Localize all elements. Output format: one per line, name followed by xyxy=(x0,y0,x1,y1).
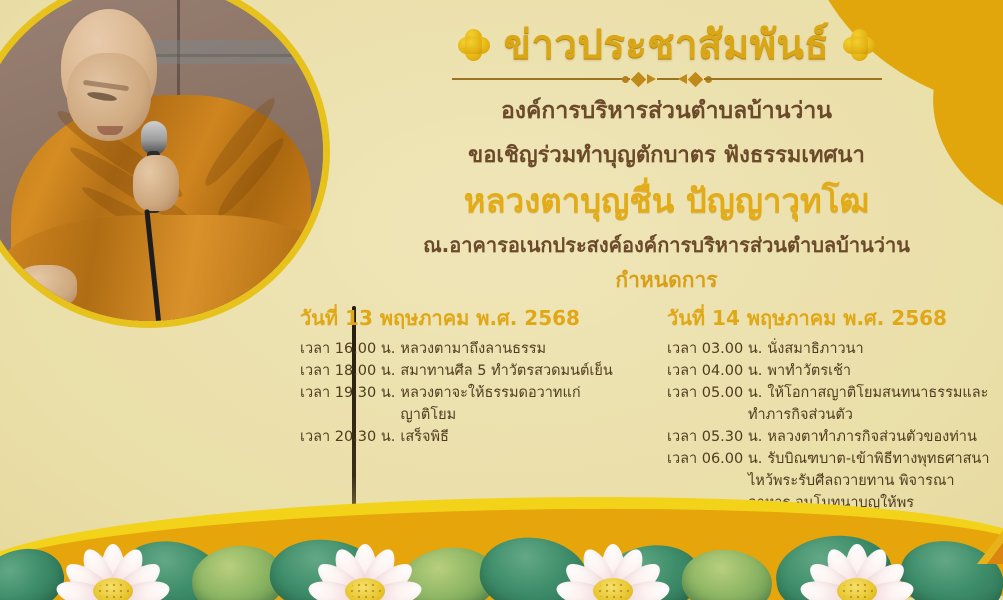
header-block: ข่าวประชาสัมพันธ์ องค์การบริหารส่วนตำบลบ… xyxy=(330,0,1003,293)
schedule-text-cont: ไหว้พระรับศีลถวายทาน พิจารณา xyxy=(743,470,955,492)
schedule-time: เวลา 06.00 น. xyxy=(667,448,762,470)
day2-heading: วันที่ 14 พฤษภาคม พ.ศ. 2568 xyxy=(667,306,990,331)
schedule-time: เวลา 20.30 น. xyxy=(300,426,395,448)
monk-hand-holding-mic xyxy=(133,155,179,211)
lotus-leaf xyxy=(267,534,386,600)
schedule-row: เวลา 20.30 น. เสร็จพิธี xyxy=(300,426,627,448)
poster-canvas: ข่าวประชาสัมพันธ์ องค์การบริหารส่วนตำบลบ… xyxy=(0,0,1003,600)
monk-other-hand xyxy=(15,265,77,309)
lotus-leaf xyxy=(396,542,500,600)
schedule-block: วันที่ 13 พฤษภาคม พ.ศ. 2568 เวลา 16.00 น… xyxy=(300,306,990,514)
lotus-leaf xyxy=(772,530,895,600)
schedule-text: หลวงตาทำภารกิจส่วนตัวของท่าน xyxy=(762,426,976,448)
photo-wall-band xyxy=(149,40,330,64)
quatrefoil-ornament-right-icon xyxy=(843,29,875,61)
schedule-row-continuation: อาหาร อนุโมทนาบุญให้พร xyxy=(667,492,990,514)
lotus-flower xyxy=(54,510,172,600)
lotus-leaf xyxy=(679,545,775,600)
agenda-label: กำหนดการ xyxy=(330,268,1003,293)
schedule-time: เวลา 04.00 น. xyxy=(667,360,762,382)
schedule-time: เวลา 05.00 น. xyxy=(667,382,762,404)
day1-heading: วันที่ 13 พฤษภาคม พ.ศ. 2568 xyxy=(300,306,627,331)
schedule-text: พาทำวัตรเช้า xyxy=(762,360,851,382)
schedule-column-day2: วันที่ 14 พฤษภาคม พ.ศ. 2568 เวลา 03.00 น… xyxy=(645,306,990,514)
schedule-row: เวลา 03.00 น. นั่งสมาธิภาวนา xyxy=(667,338,990,360)
quatrefoil-ornament-left-icon xyxy=(458,29,490,61)
microphone-head xyxy=(141,121,167,155)
organization-name: องค์การบริหารส่วนตำบลบ้านว่าน xyxy=(330,97,1003,127)
schedule-column-day1: วันที่ 13 พฤษภาคม พ.ศ. 2568 เวลา 16.00 น… xyxy=(300,306,645,514)
schedule-time: เวลา 05.30 น. xyxy=(667,426,762,448)
schedule-row: เวลา 04.00 น. พาทำวัตรเช้า xyxy=(667,360,990,382)
schedule-time: เวลา 03.00 น. xyxy=(667,338,762,360)
schedule-row: เวลา 05.00 น. ให้โอกาสญาติโยมสนทนาธรรมแล… xyxy=(667,382,990,404)
invitation-line: ขอเชิญร่วมทำบุญตักบาตร ฟังธรรมเทศนา xyxy=(330,142,1003,171)
monk-portrait-photo xyxy=(0,0,330,328)
venue-line: ณ.อาคารอเนกประสงค์องค์การบริหารส่วนตำบลบ… xyxy=(330,232,1003,258)
photo-content xyxy=(0,0,323,321)
lotus-leaf xyxy=(0,539,71,600)
schedule-text: หลวงตามาถึงลานธรรม xyxy=(395,338,546,360)
lotus-leaf xyxy=(894,532,1003,600)
ornamental-divider xyxy=(452,72,882,86)
schedule-text: ให้โอกาสญาติโยมสนทนาธรรมและ xyxy=(762,382,988,404)
lotus-flower xyxy=(798,510,916,600)
lotus-flower xyxy=(306,510,424,600)
lotus-leaf xyxy=(595,538,705,600)
schedule-text-cont: อาหาร อนุโมทนาบุญให้พร xyxy=(743,492,914,514)
schedule-text-cont: ทำภารกิจส่วนตัว xyxy=(743,404,853,426)
schedule-row: เวลา 16.00 น. หลวงตามาถึงลานธรรม xyxy=(300,338,627,360)
lotus-leaf xyxy=(115,534,230,600)
schedule-row: เวลา 06.00 น. รับบิณฑบาต-เข้าพิธีทางพุทธ… xyxy=(667,448,990,470)
schedule-time: เวลา 18.00 น. xyxy=(300,360,395,382)
schedule-row: เวลา 05.30 น. หลวงตาทำภารกิจส่วนตัวของท่… xyxy=(667,426,990,448)
thai-temple-roof-icon xyxy=(976,512,1003,564)
page-title: ข่าวประชาสัมพันธ์ xyxy=(504,24,830,66)
lotus-leaf xyxy=(475,531,592,600)
schedule-row: เวลา 19.30 น. หลวงตาจะให้ธรรมดอวาทแก่ญาต… xyxy=(300,382,627,426)
schedule-row: เวลา 18.00 น. สมาทานศีล 5 ทำวัตรสวดมนต์เ… xyxy=(300,360,627,382)
schedule-text: รับบิณฑบาต-เข้าพิธีทางพุทธศาสนา xyxy=(762,448,989,470)
schedule-text: สมาทานศีล 5 ทำวัตรสวดมนต์เย็น xyxy=(395,360,612,382)
schedule-row-continuation: ไหว้พระรับศีลถวายทาน พิจารณา xyxy=(667,470,990,492)
schedule-text: นั่งสมาธิภาวนา xyxy=(762,338,863,360)
schedule-text: หลวงตาจะให้ธรรมดอวาทแก่ญาติโยม xyxy=(395,382,627,426)
monk-name: หลวงตาบุญชื่น ปัญญาวุทโฒ xyxy=(330,181,1003,221)
title-row: ข่าวประชาสัมพันธ์ xyxy=(330,24,1003,66)
lotus-leaf xyxy=(189,541,287,600)
lotus-flower xyxy=(554,510,672,600)
schedule-text: เสร็จพิธี xyxy=(395,426,449,448)
schedule-time: เวลา 19.30 น. xyxy=(300,382,395,426)
schedule-time: เวลา 16.00 น. xyxy=(300,338,395,360)
schedule-row-continuation: ทำภารกิจส่วนตัว xyxy=(667,404,990,426)
